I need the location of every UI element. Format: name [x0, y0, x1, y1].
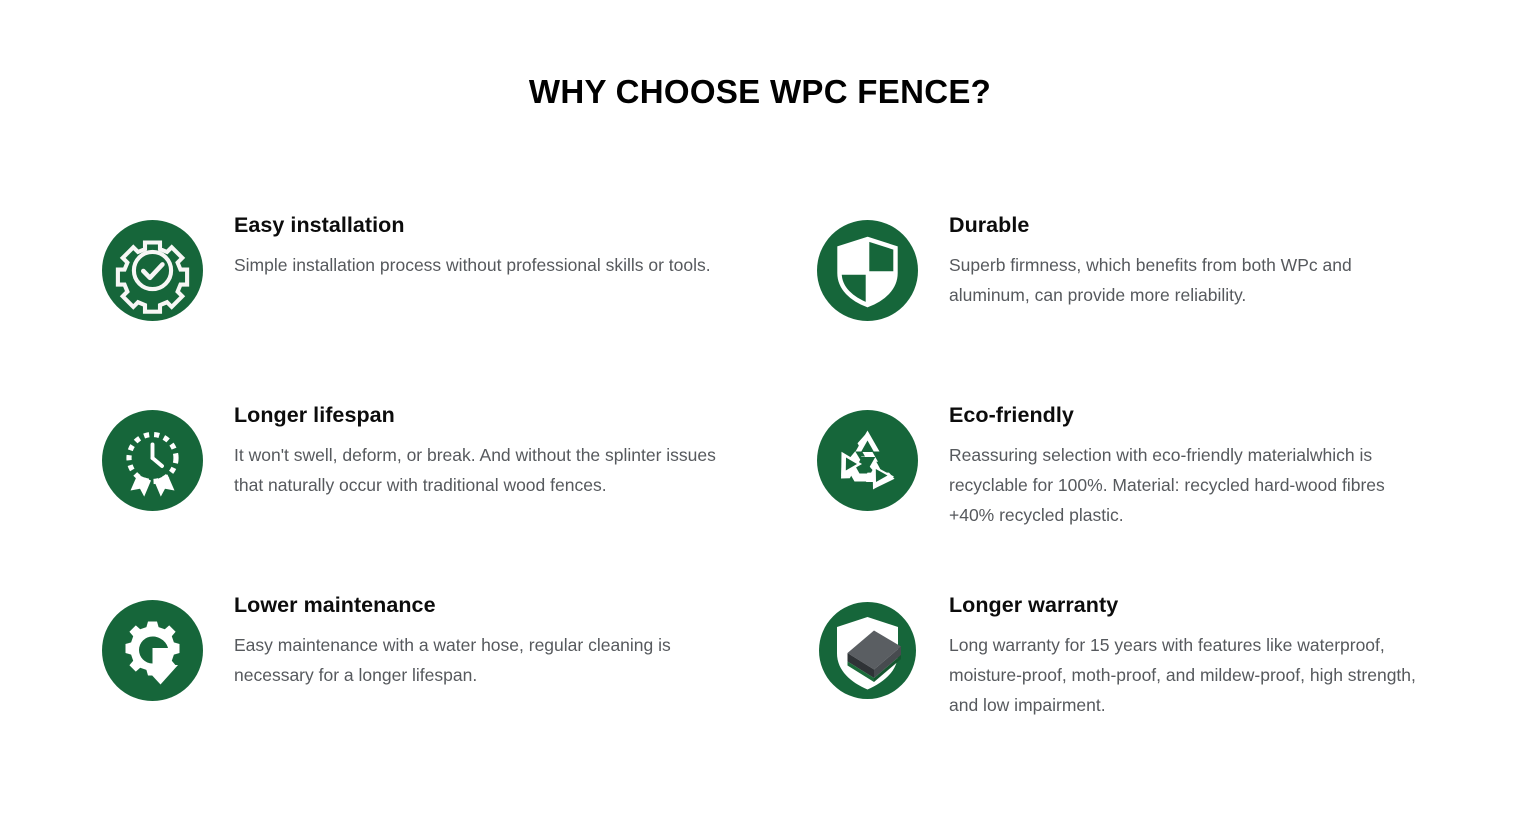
feature-icon-wrapper: [817, 600, 918, 701]
feature-icon-wrapper: [102, 410, 203, 511]
feature-text: Durable Superb firmness, which benefits …: [918, 205, 1433, 310]
feature-text: Lower maintenance Easy maintenance with …: [203, 585, 718, 690]
feature-description: Reassuring selection with eco-friendly m…: [949, 440, 1433, 530]
feature-icon-wrapper: [817, 220, 918, 321]
feature-card-durable: Durable Superb firmness, which benefits …: [817, 205, 1433, 395]
shield-quadrant-icon: [817, 220, 918, 321]
feature-title: Lower maintenance: [234, 593, 718, 619]
feature-text: Eco-friendly Reassuring selection with e…: [918, 395, 1433, 530]
why-choose-wpc-fence-section: WHY CHOOSE WPC FENCE? Easy installation: [0, 0, 1520, 828]
feature-title: Longer lifespan: [234, 403, 718, 429]
feature-title: Longer warranty: [949, 593, 1433, 619]
page-title: WHY CHOOSE WPC FENCE?: [0, 73, 1520, 111]
feature-card-longer-warranty: Longer warranty Long warranty for 15 yea…: [817, 585, 1433, 755]
feature-card-lower-maintenance: Lower maintenance Easy maintenance with …: [102, 585, 718, 755]
feature-card-longer-lifespan: Longer lifespan It won't swell, deform, …: [102, 395, 718, 585]
features-grid: Easy installation Simple installation pr…: [102, 205, 1484, 755]
feature-text: Longer warranty Long warranty for 15 yea…: [918, 585, 1433, 720]
feature-description: It won't swell, deform, or break. And wi…: [234, 440, 718, 500]
feature-title: Easy installation: [234, 213, 718, 239]
feature-icon-wrapper: [102, 220, 203, 321]
feature-text: Longer lifespan It won't swell, deform, …: [203, 395, 718, 500]
feature-title: Eco-friendly: [949, 403, 1433, 429]
shield-board-icon: [817, 600, 918, 701]
feature-icon-wrapper: [817, 410, 918, 511]
feature-description: Long warranty for 15 years with features…: [949, 630, 1433, 720]
gear-check-icon: [102, 220, 203, 321]
feature-card-easy-installation: Easy installation Simple installation pr…: [102, 205, 718, 395]
feature-title: Durable: [949, 213, 1433, 239]
gear-download-icon: [102, 600, 203, 701]
clock-badge-icon: [102, 410, 203, 511]
feature-description: Superb firmness, which benefits from bot…: [949, 250, 1433, 310]
feature-description: Simple installation process without prof…: [234, 250, 718, 280]
recycle-icon: [817, 410, 918, 511]
feature-card-eco-friendly: Eco-friendly Reassuring selection with e…: [817, 395, 1433, 585]
feature-icon-wrapper: [102, 600, 203, 701]
feature-description: Easy maintenance with a water hose, regu…: [234, 630, 718, 690]
feature-text: Easy installation Simple installation pr…: [203, 205, 718, 280]
